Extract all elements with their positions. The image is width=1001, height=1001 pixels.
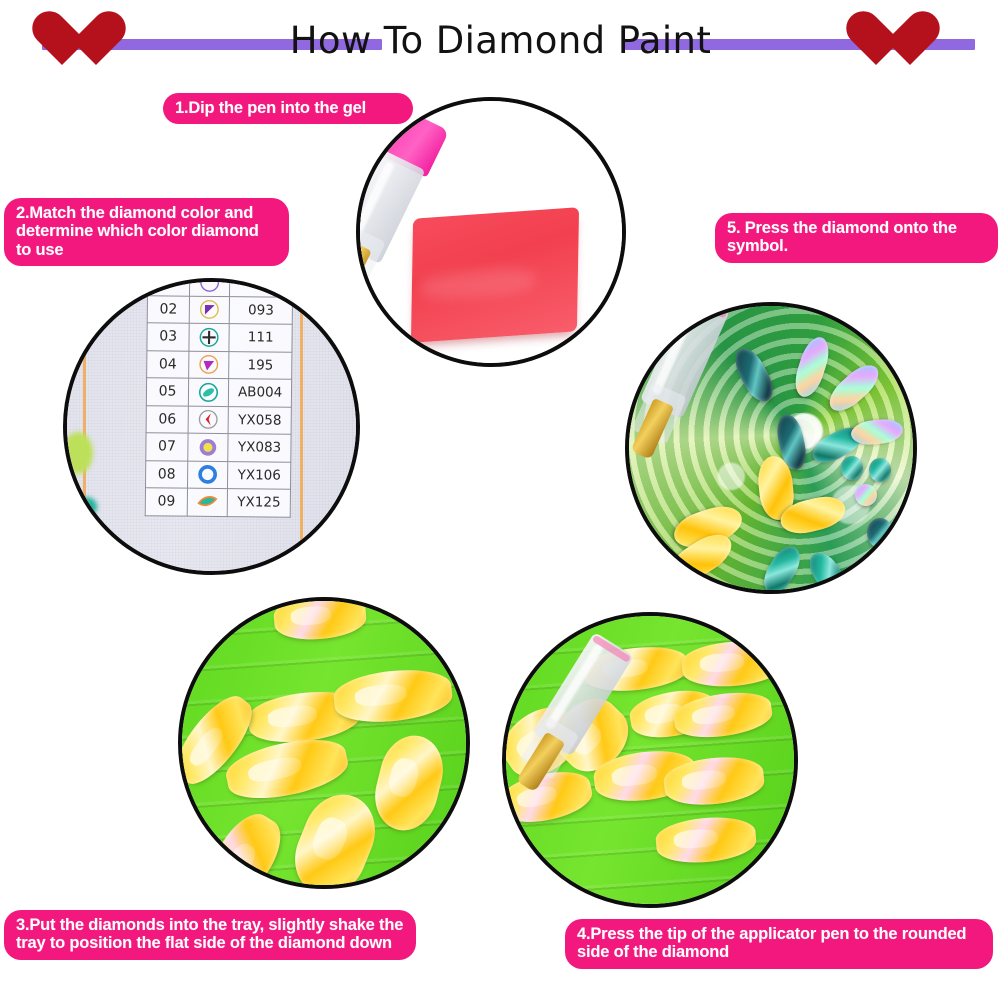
leaf-teal-orange-icon (187, 488, 227, 516)
pen-dipping-into-gel-photo (356, 97, 626, 367)
chart-row-number: 09 (145, 488, 187, 516)
quarter-circle-purple-icon (190, 278, 230, 296)
table-row: 06YX058 (146, 405, 291, 434)
table-row: 05AB004 (146, 378, 291, 407)
chart-row-code: YX106 (228, 461, 291, 489)
triangle-magenta-icon (189, 351, 229, 379)
chevron-red-icon (188, 406, 228, 434)
page-title: How To Diamond Paint (0, 19, 1001, 63)
chart-row-number: 04 (147, 350, 189, 378)
chart-row-code: YX125 (227, 489, 290, 517)
table-row: 07YX083 (146, 433, 291, 462)
table-row: 03111 (147, 323, 292, 352)
chart-row-number: 03 (147, 323, 189, 351)
ring-purple-yellow-icon (188, 433, 228, 461)
diamonds-in-green-tray-photo (178, 597, 470, 889)
table-row: 04195 (147, 350, 292, 379)
step-3-label: 3.Put the diamonds into the tray, slight… (4, 910, 416, 960)
chart-row-number: 02 (148, 278, 190, 296)
step-5-label: 5. Press the diamond onto the symbol. (715, 213, 998, 263)
chart-row-number: 08 (145, 460, 187, 488)
chart-row-code: 028 (230, 278, 293, 297)
oval-teal-icon (189, 378, 229, 406)
chart-row-code: YX058 (228, 406, 291, 434)
triangle-purple-icon (189, 296, 229, 324)
color-chart-table: 0202802093031110419505AB00406YX05807YX08… (145, 278, 294, 517)
chart-row-number: 05 (146, 378, 188, 406)
table-row: 02093 (147, 295, 292, 324)
infographic-canvas: How To Diamond Paint 1.Dip the pen into … (0, 0, 1001, 1001)
chart-row-number: 02 (147, 295, 189, 323)
placing-diamond-on-canvas-photo (625, 302, 917, 594)
table-row: 09YX125 (145, 488, 290, 517)
chart-row-number: 07 (146, 433, 188, 461)
step-4-label: 4.Press the tip of the applicator pen to… (565, 919, 993, 969)
gel-square (411, 207, 579, 343)
chart-row-number: 06 (146, 405, 188, 433)
pen-picking-up-diamond-photo (502, 612, 798, 908)
chart-row-code: 111 (229, 324, 292, 352)
table-row: 02028 (148, 278, 293, 297)
table-row: 08YX106 (145, 460, 290, 489)
chart-row-code: 195 (229, 351, 292, 379)
chart-row-code: AB004 (229, 379, 292, 407)
chart-row-code: 093 (229, 296, 292, 324)
step-2-label: 2.Match the diamond color and determine … (4, 198, 289, 266)
dmc-color-chart-photo: 0202802093031110419505AB00406YX05807YX08… (63, 278, 360, 575)
chart-row-code: YX083 (228, 434, 291, 462)
header: How To Diamond Paint (0, 0, 1001, 92)
ring-blue-icon (188, 461, 228, 489)
plus-teal-icon (189, 323, 229, 351)
